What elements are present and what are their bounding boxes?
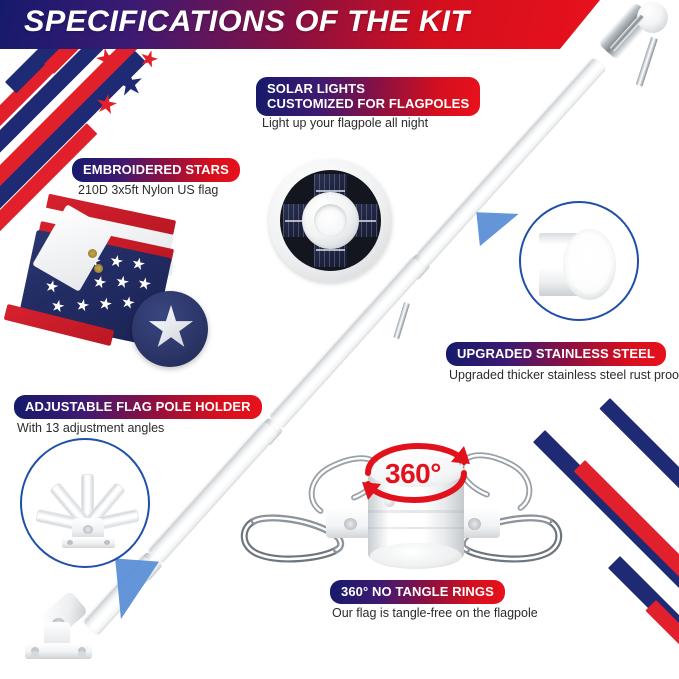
callout-subtitle-no-tangle-rings: Our flag is tangle-free on the flagpole: [332, 606, 538, 620]
callout-title-stainless-steel: UPGRADED STAINLESS STEEL: [446, 342, 666, 366]
ring-bottom-face: [370, 543, 462, 569]
callout-subtitle-embroidered-stars: 210D 3x5ft Nylon US flag: [78, 183, 218, 197]
finial-pin-icon: [636, 37, 658, 87]
infographic-canvas: SPECIFICATIONS OF THE KIT: [0, 0, 679, 679]
ring-seam: [368, 527, 464, 529]
callout-title-embroidered-stars: EMBROIDERED STARS: [72, 158, 240, 182]
ring-tab-hole-right: [468, 518, 481, 530]
solar-busbar: [316, 249, 345, 251]
callout-title-solar-lights: SOLAR LIGHTS CUSTOMIZED FOR FLAGPOLES: [256, 77, 480, 116]
flag-star: [92, 275, 107, 290]
callout-subtitle-solar-lights: Light up your flagpole all night: [262, 116, 428, 130]
flag-star: [109, 254, 124, 269]
callout-title-adjustable-holder: ADJUSTABLE FLAG POLE HOLDER: [14, 395, 262, 419]
callout-pointer: [476, 208, 521, 246]
stainless-steel-callout-circle: [519, 201, 639, 321]
flag-star: [120, 295, 135, 310]
holder-bolt-hole-icon: [104, 540, 110, 545]
pole-segment-middle: [269, 257, 426, 429]
flag-star: [75, 298, 90, 313]
flag-grommet-icon: [88, 249, 97, 258]
flag-star: [115, 274, 130, 289]
callout-subtitle-adjustable-holder: With 13 adjustment angles: [17, 421, 164, 435]
flag-grommet-icon: [94, 264, 103, 273]
holder-hinge-bolt-icon: [83, 525, 93, 534]
flag-star: [98, 296, 113, 311]
callout-title-no-tangle-rings: 360° NO TANGLE RINGS: [330, 580, 505, 604]
ring-tab-hole-left: [344, 518, 357, 530]
adjustable-holder-callout-circle: [20, 438, 150, 568]
rotation-label: 360°: [385, 458, 441, 490]
bracket-screw-hole-icon: [78, 651, 86, 658]
flag-star: [50, 298, 65, 313]
pole-clip-pin-icon: [393, 302, 410, 339]
solar-center-hole: [314, 204, 347, 237]
holder-bolt-hole-icon: [67, 540, 73, 545]
flag-star: [131, 256, 146, 271]
callout-subtitle-stainless-steel: Upgraded thicker stainless steel rust pr…: [449, 368, 679, 382]
callout-pointer: [111, 559, 159, 622]
ring-seam: [368, 510, 464, 513]
page-title: SPECIFICATIONS OF THE KIT: [24, 5, 470, 39]
bracket-screw-hole-icon: [31, 651, 39, 658]
flag-star: [44, 279, 59, 294]
steel-cylinder-face-inner: [569, 235, 610, 294]
flag-star: [137, 276, 152, 291]
